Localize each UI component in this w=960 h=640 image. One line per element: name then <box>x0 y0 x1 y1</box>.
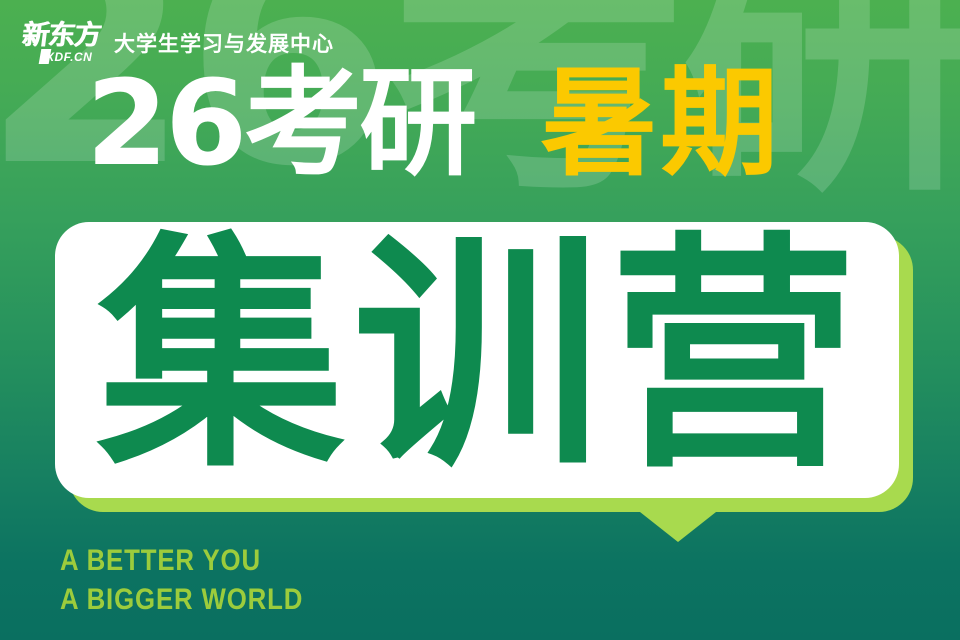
brand-logo: 新东方 XDF.CN <box>22 22 100 63</box>
tagline: A BETTER YOU A BIGGER WORLD <box>60 545 343 615</box>
tagline-line-1: A BETTER YOU <box>60 545 303 576</box>
header-title: 大学生学习与发展中心 <box>114 28 334 58</box>
tagline-line-2: A BIGGER WORLD <box>60 584 303 615</box>
kicker-headline: 26考研 暑期 <box>86 64 780 182</box>
kicker-highlight-text: 暑期 <box>540 64 780 182</box>
card-face: 集训营 <box>55 222 899 498</box>
logo-name: 新东方 <box>20 22 101 49</box>
kicker-primary-text: 26考研 <box>86 64 474 182</box>
card-pointer-tail <box>640 512 716 542</box>
poster-root: 26考研 新东方 XDF.CN 大学生学习与发展中心 26考研 暑期 集训营 A… <box>0 0 960 640</box>
card-title: 集训营 <box>97 233 865 481</box>
header: 新东方 XDF.CN 大学生学习与发展中心 <box>22 22 334 63</box>
logo-domain: XDF.CN <box>46 51 92 63</box>
main-card: 集训营 <box>55 222 913 512</box>
